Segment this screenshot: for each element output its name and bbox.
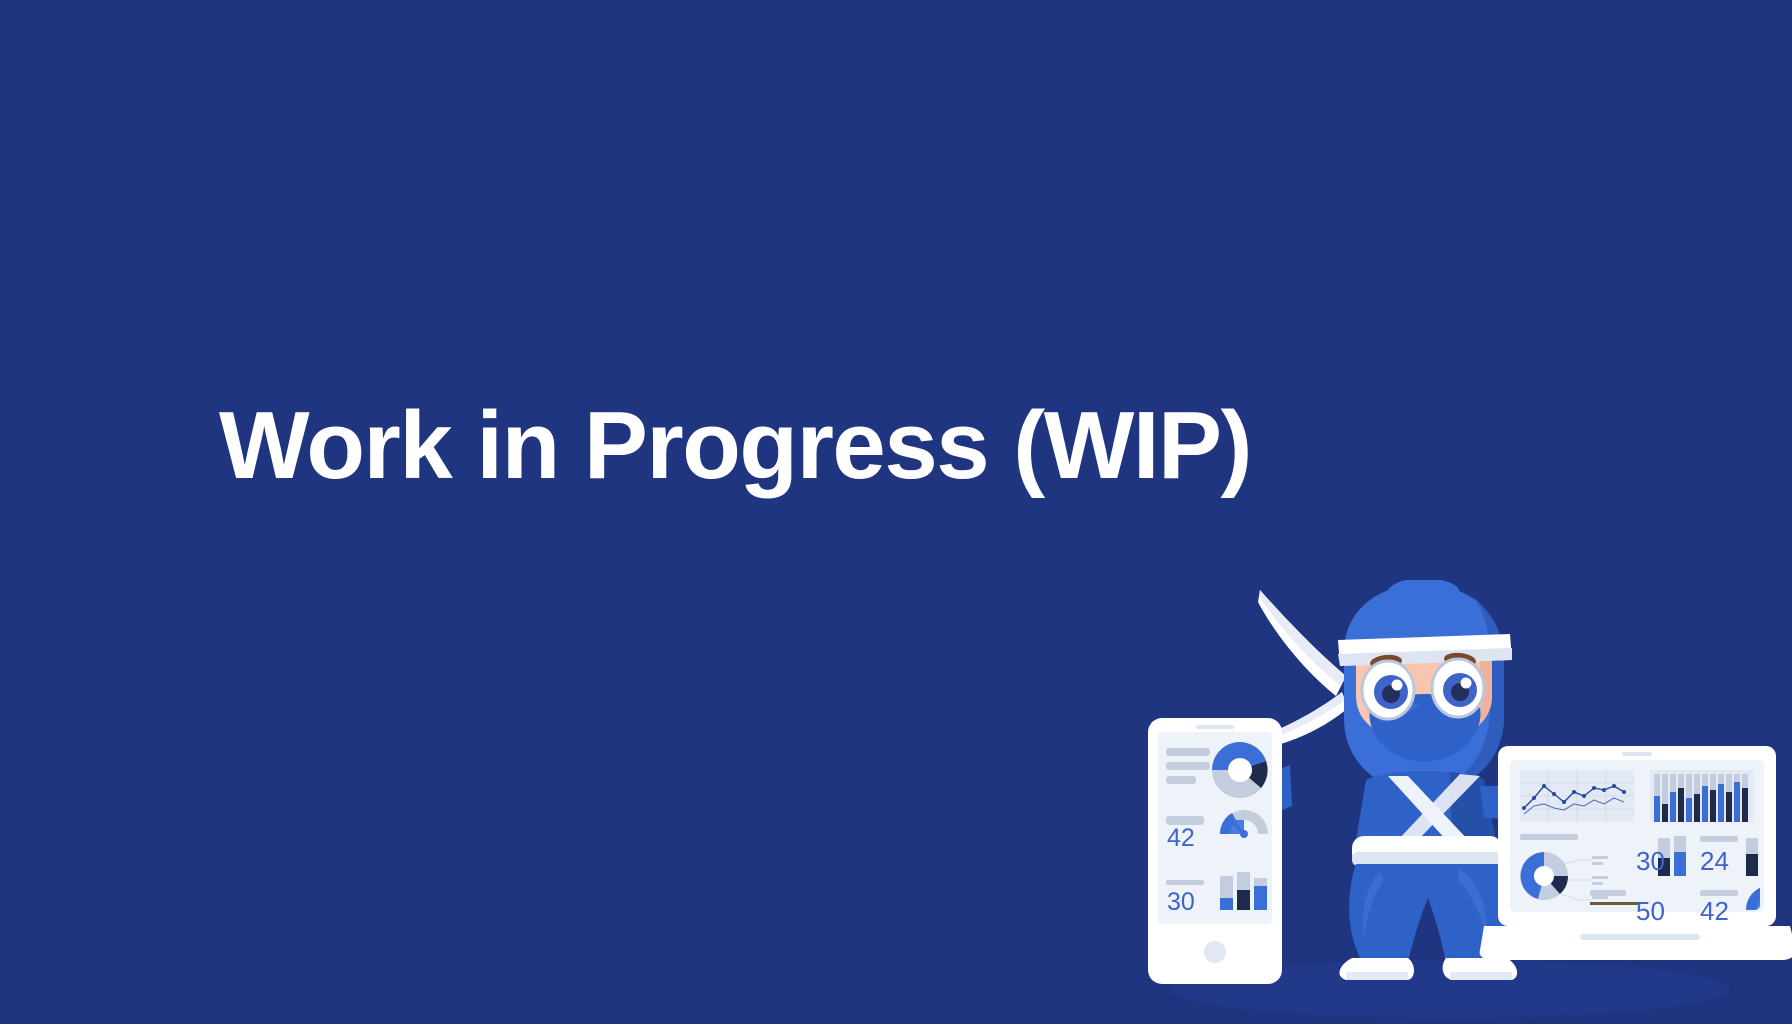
eye-right bbox=[1432, 659, 1484, 717]
page-canvas: Work in Progress (WIP) bbox=[0, 0, 1792, 1024]
phone-donut-chart bbox=[1212, 742, 1268, 798]
laptop-stat-50: 50 bbox=[1636, 896, 1665, 926]
smartphone-device[interactable]: 42 30 bbox=[1148, 718, 1282, 984]
phone-stat-30: 30 bbox=[1167, 888, 1195, 916]
phone-stat-42: 42 bbox=[1167, 824, 1195, 852]
laptop-stat-42: 42 bbox=[1700, 896, 1729, 926]
laptop-device[interactable]: 30 24 50 42 bbox=[1480, 746, 1792, 960]
laptop-stat-30: 30 bbox=[1636, 846, 1665, 876]
ninja-head bbox=[1338, 580, 1512, 792]
eye-left bbox=[1362, 661, 1414, 719]
laptop-column-chart bbox=[1650, 770, 1754, 822]
ninja-mascot-illustration: 42 30 bbox=[1140, 580, 1792, 1024]
page-title: Work in Progress (WIP) bbox=[219, 398, 1251, 494]
title-container: Work in Progress (WIP) bbox=[0, 398, 1470, 494]
laptop-line-chart bbox=[1520, 770, 1634, 822]
laptop-stat-24: 24 bbox=[1700, 846, 1729, 876]
